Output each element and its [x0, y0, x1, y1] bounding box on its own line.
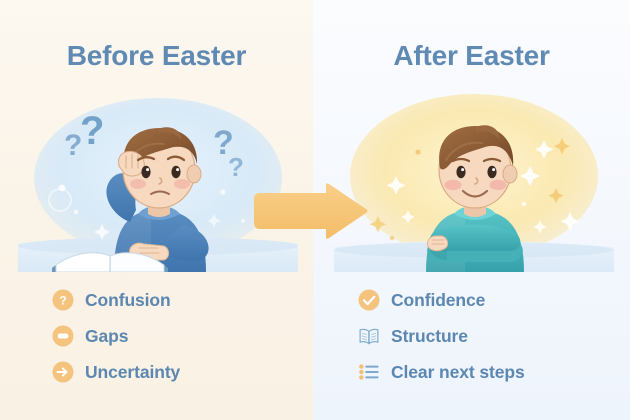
confident-boy-illustration	[334, 92, 614, 272]
list-item: Uncertainty	[52, 354, 312, 390]
boy-cheek	[490, 180, 507, 190]
arrow-right-shape	[254, 183, 368, 239]
sparkle-dot	[522, 202, 526, 206]
list-item: Gaps	[52, 318, 312, 354]
after-panel-list: Confidence Structure	[358, 282, 618, 390]
before-panel-list: ? Confusion Gaps Uncertainty	[52, 282, 312, 390]
boy-ear	[503, 165, 517, 183]
question-mark-icon: ?	[228, 152, 244, 182]
boy-eye-right	[487, 166, 496, 178]
boy-eye-left	[456, 166, 465, 178]
bubble	[74, 210, 78, 214]
before-panel-title: Before Easter	[0, 40, 313, 72]
svg-text:?: ?	[59, 294, 66, 308]
boy-cheek	[174, 179, 190, 189]
list-item-label: Confusion	[85, 290, 171, 311]
boy-hand	[427, 236, 447, 251]
list-item-label: Gaps	[85, 326, 128, 347]
after-panel-title: After Easter	[313, 40, 630, 72]
boy-ear	[187, 165, 201, 183]
list-item: Structure	[358, 318, 618, 354]
boy-eye-left	[141, 166, 150, 178]
arrow-right-circle-icon	[52, 361, 74, 383]
question-mark-icon: ?	[80, 109, 104, 153]
minus-circle-icon	[52, 325, 74, 347]
list-item-label: Confidence	[391, 290, 485, 311]
confused-boy-illustration: ? ? ? ?	[18, 92, 298, 272]
boy-cheek	[130, 179, 146, 189]
comparison-infographic: Before Easter After Easter	[0, 0, 630, 420]
check-circle-icon	[358, 289, 380, 311]
list-item: Clear next steps	[358, 354, 618, 390]
question-mark-circle-icon: ?	[52, 289, 74, 311]
boy-cheek	[445, 180, 462, 190]
transition-arrow	[248, 183, 370, 239]
svg-text:?: ?	[80, 109, 104, 153]
checklist-icon	[358, 361, 380, 383]
boy-eye-right	[171, 166, 180, 178]
list-item-label: Structure	[391, 326, 468, 347]
open-book-icon	[358, 325, 380, 347]
svg-text:?: ?	[228, 152, 244, 182]
sparkle-dot	[390, 236, 394, 240]
list-item-label: Uncertainty	[85, 362, 180, 383]
sparkle-dot	[415, 149, 420, 154]
list-item: Confidence	[358, 282, 618, 318]
bubble	[241, 219, 245, 223]
list-item: ? Confusion	[52, 282, 312, 318]
list-item-label: Clear next steps	[391, 362, 525, 383]
bubble	[220, 189, 225, 194]
